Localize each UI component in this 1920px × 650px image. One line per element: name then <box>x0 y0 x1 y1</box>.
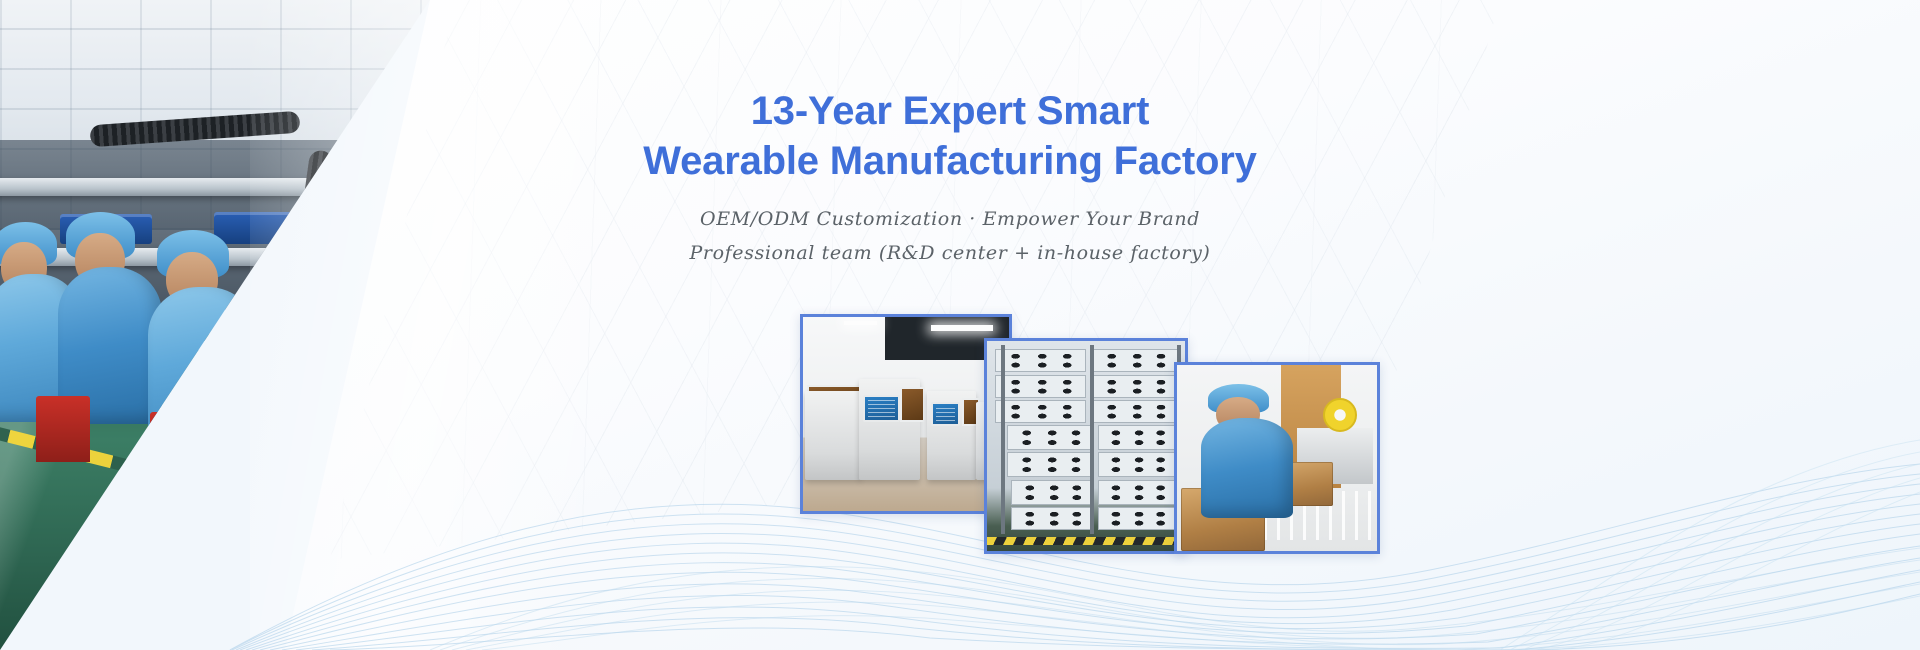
frame-tray <box>1011 480 1094 505</box>
packing-station-image <box>1177 365 1377 551</box>
frame-tray <box>1092 349 1179 372</box>
frame-tray <box>995 375 1086 398</box>
head <box>271 263 328 323</box>
subtitle-group: OEM/ODM Customization · Empower Your Bra… <box>640 202 1260 270</box>
card-frame-trays-rack[interactable] <box>984 338 1188 554</box>
machine-screen <box>931 402 960 425</box>
frame-tray <box>1098 452 1177 477</box>
smock <box>1201 418 1293 517</box>
ceiling-light <box>844 321 877 325</box>
frame-tray <box>1098 425 1177 450</box>
worker <box>58 212 162 424</box>
packing-worker <box>1201 384 1293 518</box>
machine-screen <box>863 395 900 422</box>
rack-post <box>1001 345 1005 534</box>
frame-tray <box>995 400 1086 423</box>
stool <box>150 412 208 484</box>
rack-post <box>1090 345 1094 534</box>
machine-window <box>900 387 925 422</box>
inspection-machine <box>805 391 861 480</box>
stool <box>36 396 90 462</box>
card-packing-station[interactable] <box>1174 362 1380 554</box>
frame-tray <box>1098 480 1177 505</box>
card-aoi-inspection-machines[interactable] <box>800 314 1012 514</box>
frame-tray <box>1092 400 1179 423</box>
hero-text-block: 13-Year Expert Smart Wearable Manufactur… <box>640 86 1260 270</box>
frame-tray <box>1098 507 1177 530</box>
hero-banner: 13-Year Expert Smart Wearable Manufactur… <box>0 0 1920 650</box>
frame-trays-rack-image <box>987 341 1185 551</box>
frame-tray <box>995 349 1086 372</box>
aoi-inspection-machines-image <box>803 317 1009 511</box>
worker <box>148 230 258 448</box>
subtitle-line-1: OEM/ODM Customization · Empower Your Bra… <box>640 202 1260 236</box>
cap <box>261 240 339 291</box>
frame-tray <box>1007 452 1094 477</box>
headline-line-1: 13-Year Expert Smart <box>640 86 1260 136</box>
ceiling-light <box>931 325 993 331</box>
headline-line-2: Wearable Manufacturing Factory <box>640 136 1260 186</box>
smock <box>148 287 258 448</box>
frame-tray <box>1011 507 1094 530</box>
frame-tray <box>1092 375 1179 398</box>
frame-tray <box>1007 425 1094 450</box>
subtitle-line-2: Professional team (R&D center + in-house… <box>640 236 1260 270</box>
hazard-stripe <box>987 537 1185 545</box>
